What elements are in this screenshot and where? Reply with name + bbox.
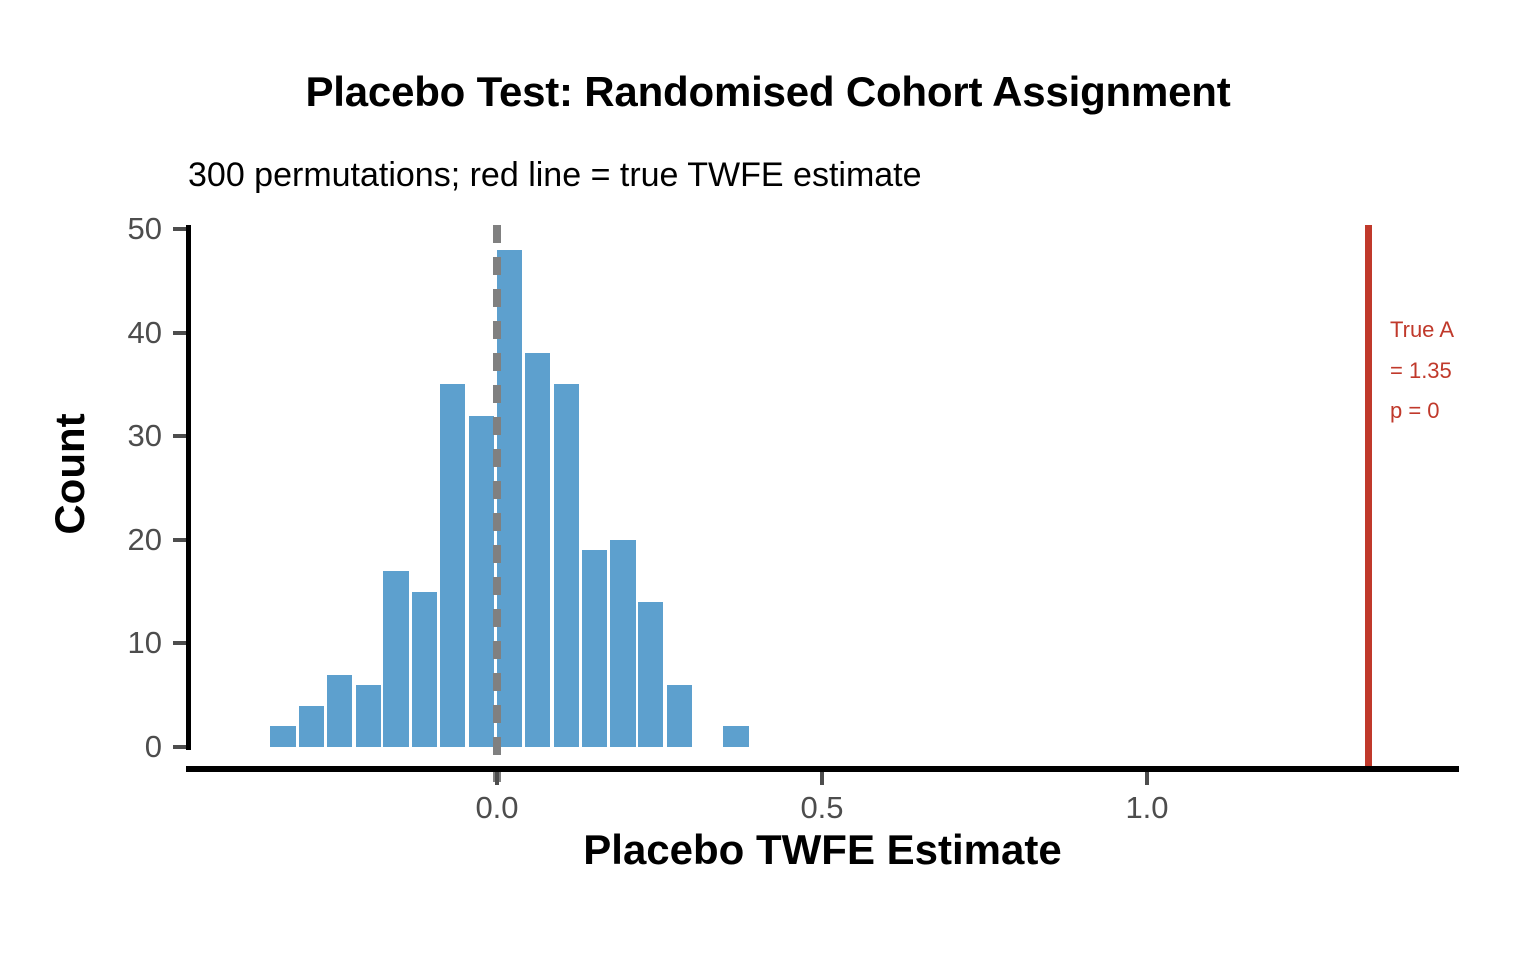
histogram-bar <box>582 550 607 747</box>
y-axis-line <box>186 225 191 750</box>
y-axis-tick <box>173 331 186 335</box>
histogram-bar <box>412 592 437 747</box>
histogram-bar <box>554 384 579 747</box>
true-estimate-annotation-line: True A <box>1390 310 1510 351</box>
histogram-bar <box>525 353 550 747</box>
zero-reference-line <box>493 225 501 782</box>
x-axis-tick-label: 0.0 <box>475 790 518 826</box>
true-estimate-annotation: True A= 1.35p = 0 <box>1390 310 1510 432</box>
true-estimate-line <box>1365 225 1372 770</box>
y-axis-tick <box>173 745 186 749</box>
histogram-bar <box>356 685 381 747</box>
placebo-test-histogram-figure: Placebo Test: Randomised Cohort Assignme… <box>0 0 1536 960</box>
y-axis-tick-label: 20 <box>100 524 162 555</box>
y-axis-tick <box>173 227 186 231</box>
histogram-bars <box>0 225 1536 747</box>
histogram-bar <box>383 571 408 747</box>
true-estimate-annotation-line: p = 0 <box>1390 391 1510 432</box>
x-axis-tick-label: 1.0 <box>1125 790 1168 826</box>
chart-title: Placebo Test: Randomised Cohort Assignme… <box>0 68 1536 116</box>
histogram-bar <box>610 540 635 747</box>
y-axis-tick-label: 0 <box>100 731 162 762</box>
histogram-bar <box>299 706 324 747</box>
chart-subtitle: 300 permutations; red line = true TWFE e… <box>188 156 922 195</box>
histogram-bar <box>270 726 295 747</box>
x-axis-tick <box>820 772 824 785</box>
histogram-bar <box>667 685 692 747</box>
x-axis-title: Placebo TWFE Estimate <box>186 826 1459 874</box>
histogram-bar <box>440 384 465 747</box>
y-axis-tick <box>173 434 186 438</box>
y-axis-tick <box>173 538 186 542</box>
y-axis-tick <box>173 641 186 645</box>
y-axis-tick-label: 50 <box>100 213 162 244</box>
histogram-bar <box>638 602 663 747</box>
y-axis-tick-label: 40 <box>100 317 162 348</box>
true-estimate-annotation-line: = 1.35 <box>1390 351 1510 392</box>
y-axis-title: Count <box>46 344 94 604</box>
y-axis-tick-label: 10 <box>100 627 162 658</box>
x-axis-tick <box>495 772 499 785</box>
y-axis-tick-label: 30 <box>100 420 162 451</box>
histogram-bar <box>327 675 352 748</box>
histogram-bar <box>469 416 494 748</box>
histogram-bar <box>723 726 748 747</box>
x-axis-tick <box>1145 772 1149 785</box>
x-axis-tick-label: 0.5 <box>800 790 843 826</box>
